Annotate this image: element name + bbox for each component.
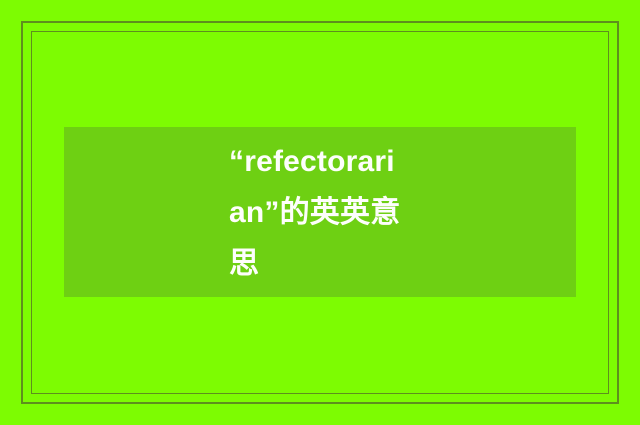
page-title: “refectorarian”的英英意思 — [229, 136, 411, 289]
title-banner-panel: “refectorarian”的英英意思 — [64, 127, 576, 297]
page-root: “refectorarian”的英英意思 — [0, 0, 640, 425]
